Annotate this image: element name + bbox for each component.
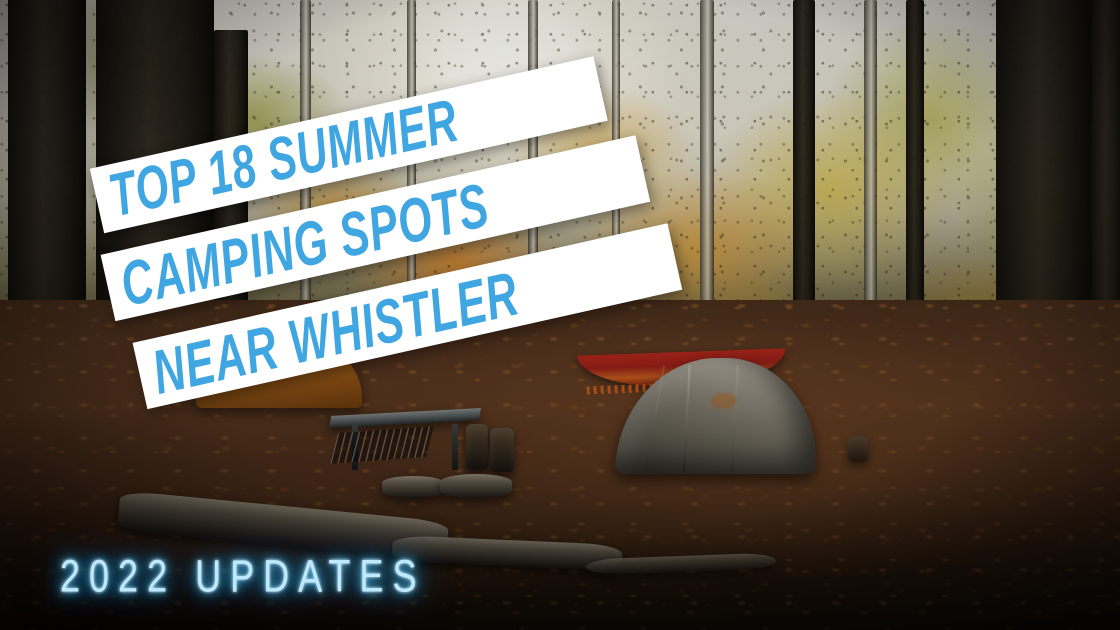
subtitle-neon-text: 2022 UPDATES bbox=[60, 550, 425, 603]
blog-hero-banner: TOP 18 SUMMER CAMPING SPOTS NEAR WHISTLE… bbox=[0, 0, 1120, 630]
